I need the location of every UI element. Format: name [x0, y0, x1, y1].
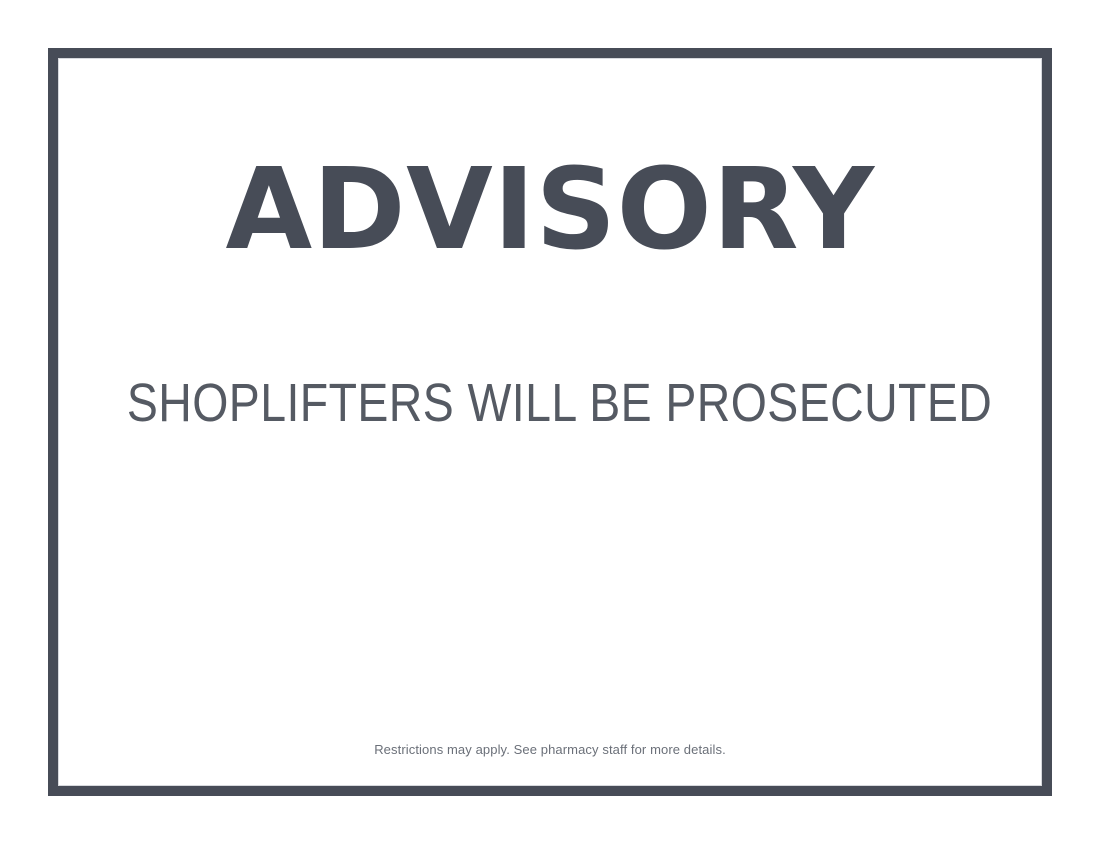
sign-canvas: ADVISORY SHOPLIFTERS WILL BE PROSECUTED … — [0, 0, 1100, 850]
sign-frame: ADVISORY SHOPLIFTERS WILL BE PROSECUTED … — [48, 48, 1052, 796]
sign-body: ADVISORY SHOPLIFTERS WILL BE PROSECUTED … — [58, 58, 1042, 786]
sign-title: ADVISORY — [58, 154, 1042, 266]
sign-subtitle: SHOPLIFTERS WILL BE PROSECUTED — [127, 376, 973, 430]
sign-footnote: Restrictions may apply. See pharmacy sta… — [58, 742, 1042, 758]
